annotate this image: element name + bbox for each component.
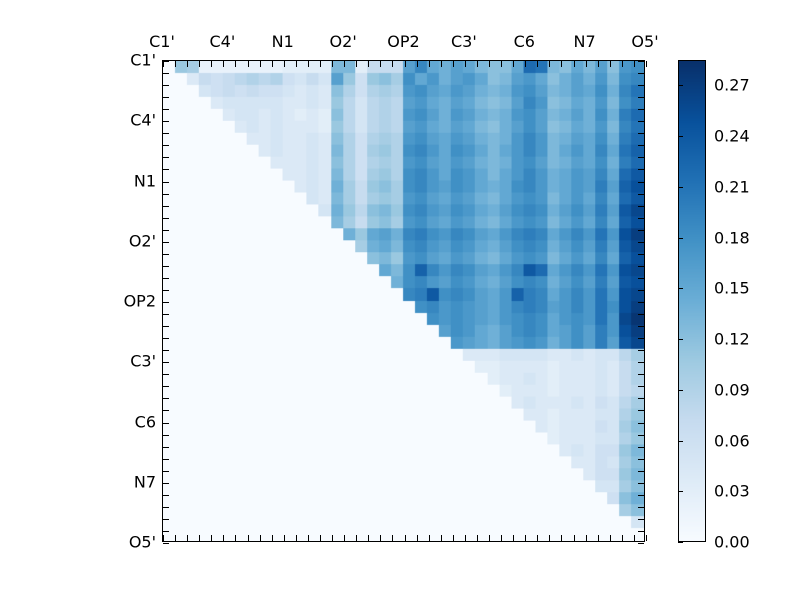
y-tick [638, 531, 644, 532]
x-tick [477, 61, 478, 67]
x-tick [235, 61, 236, 67]
x-tick [646, 61, 647, 67]
x-tick [465, 535, 466, 541]
y-tick [163, 290, 169, 291]
y-tick [638, 206, 644, 207]
x-tick [175, 61, 176, 67]
y-tick [638, 145, 644, 146]
y-tick [163, 471, 169, 472]
x-tick [187, 535, 188, 541]
heatmap-plot-area[interactable] [162, 60, 645, 542]
y-tick [163, 109, 169, 110]
y-tick [163, 531, 169, 532]
y-tick [638, 266, 644, 267]
x-tick-label: OP2 [387, 32, 419, 51]
colorbar-tick [678, 136, 683, 137]
x-tick [501, 61, 502, 67]
y-tick [638, 278, 644, 279]
colorbar[interactable] [678, 60, 706, 542]
x-tick [574, 61, 575, 67]
x-tick [175, 535, 176, 541]
y-tick [638, 97, 644, 98]
y-tick-label: N1 [108, 171, 156, 190]
x-tick [211, 535, 212, 541]
y-tick [163, 121, 169, 122]
x-tick [199, 61, 200, 67]
y-tick [638, 73, 644, 74]
x-tick-label: N1 [272, 32, 294, 51]
y-tick [638, 242, 644, 243]
x-tick [296, 61, 297, 67]
y-tick [638, 483, 644, 484]
x-tick [465, 61, 466, 67]
y-tick [638, 290, 644, 291]
y-tick [638, 182, 644, 183]
colorbar-tick-label: 0.27 [714, 76, 750, 95]
y-tick [163, 398, 169, 399]
x-tick [405, 535, 406, 541]
y-tick [638, 169, 644, 170]
x-tick [489, 535, 490, 541]
heatmap-matrix[interactable] [163, 61, 644, 541]
y-tick [638, 218, 644, 219]
x-tick-label: C4' [210, 32, 236, 51]
y-tick [638, 338, 644, 339]
x-tick [537, 535, 538, 541]
y-tick [163, 61, 169, 62]
colorbar-tick [678, 441, 683, 442]
y-tick [638, 519, 644, 520]
y-tick [163, 423, 169, 424]
x-tick [525, 535, 526, 541]
colorbar-tick-label: 0.15 [714, 279, 750, 298]
x-tick [429, 535, 430, 541]
y-tick [163, 507, 169, 508]
colorbar-tick-label: 0.24 [714, 127, 750, 146]
y-tick [638, 314, 644, 315]
colorbar-tick [678, 491, 683, 492]
x-tick [622, 61, 623, 67]
y-tick [163, 302, 169, 303]
x-tick [537, 61, 538, 67]
x-tick [380, 535, 381, 541]
y-tick [163, 338, 169, 339]
y-tick [163, 495, 169, 496]
y-tick [163, 85, 169, 86]
y-tick [638, 423, 644, 424]
y-tick [163, 230, 169, 231]
x-tick [392, 61, 393, 67]
x-tick [284, 535, 285, 541]
y-tick [638, 471, 644, 472]
x-tick [549, 61, 550, 67]
y-tick [638, 495, 644, 496]
y-tick [638, 543, 644, 544]
y-tick [638, 362, 644, 363]
colorbar-gradient [679, 61, 705, 541]
x-tick [344, 61, 345, 67]
x-tick-label: N7 [574, 32, 596, 51]
y-tick [638, 386, 644, 387]
x-tick [598, 535, 599, 541]
x-tick [513, 535, 514, 541]
y-tick [638, 85, 644, 86]
y-tick [163, 350, 169, 351]
x-tick [646, 535, 647, 541]
x-tick [163, 535, 164, 541]
x-tick [501, 535, 502, 541]
x-tick [248, 61, 249, 67]
y-tick [638, 302, 644, 303]
y-tick [163, 386, 169, 387]
y-tick-label: C6 [108, 412, 156, 431]
y-tick [163, 157, 169, 158]
y-tick [163, 145, 169, 146]
x-tick [368, 61, 369, 67]
colorbar-tick-label: 0.21 [714, 177, 750, 196]
x-tick [260, 535, 261, 541]
x-tick [634, 535, 635, 541]
y-tick [638, 398, 644, 399]
y-tick [638, 230, 644, 231]
colorbar-tick [678, 339, 683, 340]
y-tick [638, 254, 644, 255]
x-tick [272, 61, 273, 67]
y-tick [638, 410, 644, 411]
x-tick [284, 61, 285, 67]
y-tick [163, 266, 169, 267]
x-tick-label: C6 [514, 32, 535, 51]
y-tick [163, 206, 169, 207]
x-tick [211, 61, 212, 67]
colorbar-tick [678, 187, 683, 188]
y-tick [163, 362, 169, 363]
y-tick [163, 483, 169, 484]
x-tick [223, 61, 224, 67]
y-tick [638, 61, 644, 62]
y-tick [163, 326, 169, 327]
x-tick [235, 535, 236, 541]
y-tick [638, 109, 644, 110]
colorbar-tick-label: 0.09 [714, 380, 750, 399]
y-tick [163, 519, 169, 520]
y-tick [163, 218, 169, 219]
x-tick [598, 61, 599, 67]
y-tick-label: C1' [108, 51, 156, 70]
colorbar-tick-label: 0.12 [714, 330, 750, 349]
x-tick [429, 61, 430, 67]
x-tick [308, 535, 309, 541]
y-tick [163, 97, 169, 98]
x-tick [223, 535, 224, 541]
y-tick [163, 73, 169, 74]
colorbar-tick [678, 542, 683, 543]
y-tick [638, 326, 644, 327]
y-tick [163, 374, 169, 375]
y-tick [163, 447, 169, 448]
y-tick [163, 254, 169, 255]
x-tick [392, 535, 393, 541]
y-tick [638, 350, 644, 351]
x-tick [380, 61, 381, 67]
colorbar-tick-label: 0.00 [714, 533, 750, 552]
x-tick [634, 61, 635, 67]
colorbar-tick-label: 0.06 [714, 431, 750, 450]
y-tick [163, 169, 169, 170]
y-tick [163, 133, 169, 134]
colorbar-tick [678, 288, 683, 289]
x-tick-label: C3' [451, 32, 477, 51]
y-tick [163, 459, 169, 460]
colorbar-tick-label: 0.03 [714, 482, 750, 501]
y-tick [638, 194, 644, 195]
x-tick [417, 535, 418, 541]
x-tick [561, 61, 562, 67]
y-tick [638, 121, 644, 122]
x-tick [453, 535, 454, 541]
x-tick [187, 61, 188, 67]
y-tick [638, 447, 644, 448]
x-tick [549, 535, 550, 541]
x-tick-label: O5' [631, 32, 658, 51]
y-tick-label: C3' [108, 352, 156, 371]
y-tick [638, 507, 644, 508]
x-tick [248, 535, 249, 541]
x-tick [356, 535, 357, 541]
x-tick-label: C1' [149, 32, 175, 51]
y-tick [638, 374, 644, 375]
x-tick [308, 61, 309, 67]
x-tick [260, 61, 261, 67]
x-tick [332, 61, 333, 67]
x-tick [417, 61, 418, 67]
x-tick [586, 61, 587, 67]
x-tick [344, 535, 345, 541]
x-tick [296, 535, 297, 541]
x-tick [453, 61, 454, 67]
y-tick [163, 194, 169, 195]
x-tick [610, 61, 611, 67]
x-tick [272, 535, 273, 541]
x-tick-label: O2' [330, 32, 357, 51]
y-tick-label: OP2 [108, 292, 156, 311]
colorbar-tick [678, 238, 683, 239]
y-tick-label: O2' [108, 231, 156, 250]
x-tick [574, 535, 575, 541]
x-tick [525, 61, 526, 67]
y-tick-label: C4' [108, 111, 156, 130]
colorbar-tick [678, 390, 683, 391]
x-tick [441, 61, 442, 67]
colorbar-tick [678, 85, 683, 86]
x-tick [320, 535, 321, 541]
y-tick [163, 543, 169, 544]
y-tick [163, 242, 169, 243]
y-tick [638, 459, 644, 460]
x-tick [513, 61, 514, 67]
y-tick [163, 182, 169, 183]
x-tick [320, 61, 321, 67]
y-tick [163, 314, 169, 315]
y-tick [163, 435, 169, 436]
x-tick [610, 535, 611, 541]
x-tick [441, 535, 442, 541]
y-tick [638, 435, 644, 436]
x-tick [489, 61, 490, 67]
y-tick [163, 278, 169, 279]
y-tick [163, 410, 169, 411]
x-tick [405, 61, 406, 67]
y-tick-label: O5' [108, 533, 156, 552]
x-tick [561, 535, 562, 541]
x-tick [368, 535, 369, 541]
x-tick [332, 535, 333, 541]
colorbar-tick-label: 0.18 [714, 228, 750, 247]
y-tick [638, 157, 644, 158]
x-tick [356, 61, 357, 67]
heatmap-figure: C1'C4'N1O2'OP2C3'C6N7O5' C1'C4'N1O2'OP2C… [0, 0, 800, 600]
y-tick-label: N7 [108, 472, 156, 491]
y-tick [638, 133, 644, 134]
x-tick [586, 535, 587, 541]
x-tick [622, 535, 623, 541]
x-tick [477, 535, 478, 541]
x-tick [199, 535, 200, 541]
